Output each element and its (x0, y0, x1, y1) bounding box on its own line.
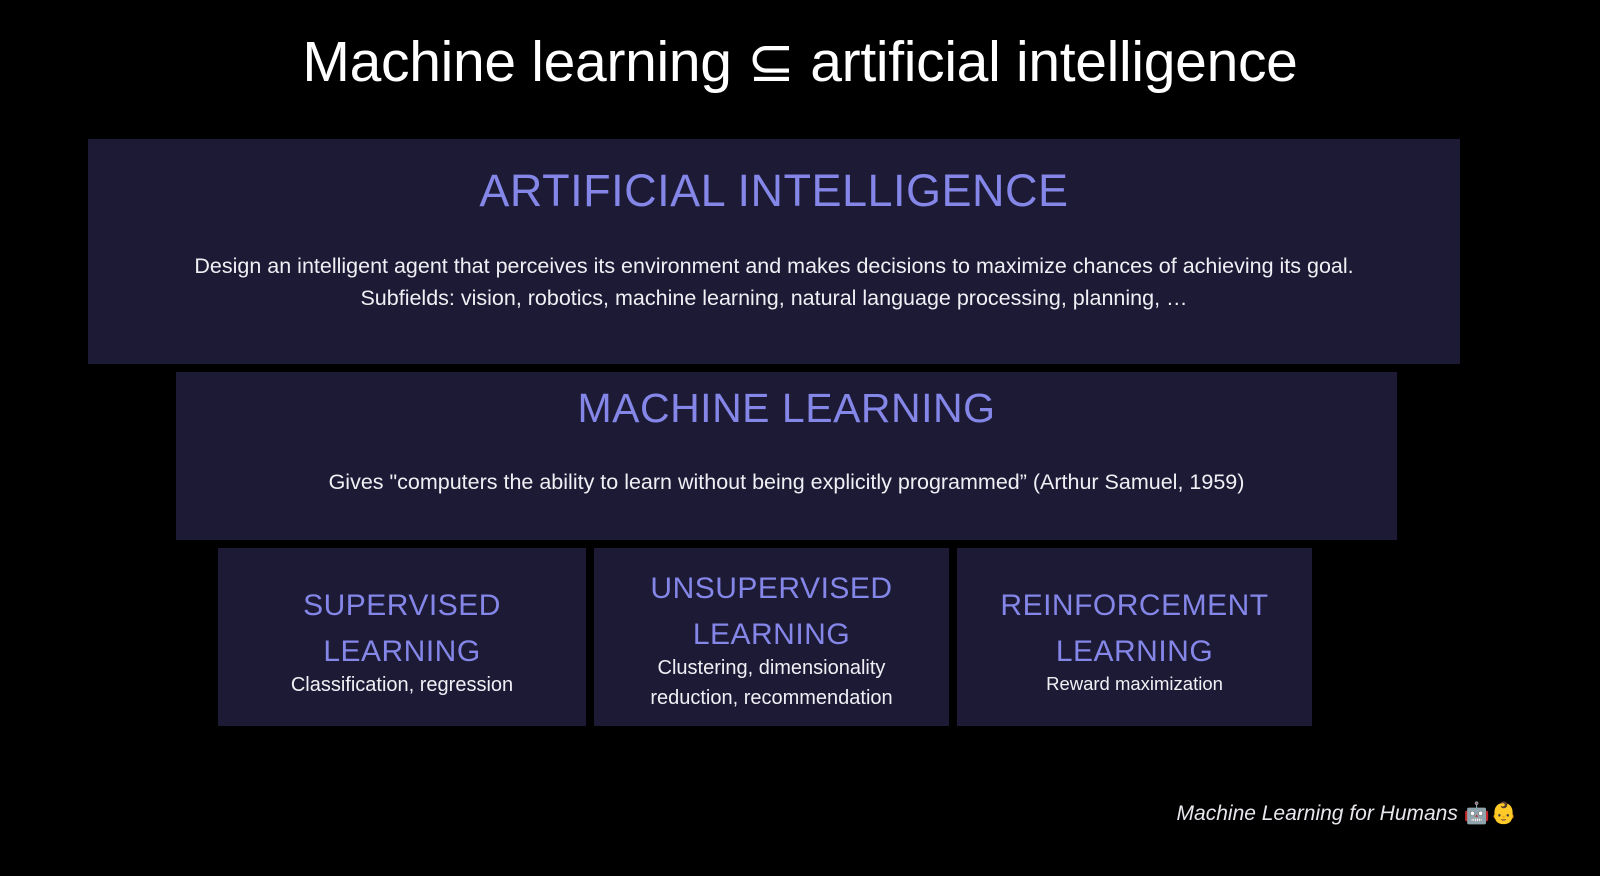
supervised-learning-heading: SUPERVISED LEARNING (218, 583, 586, 674)
unsupervised-learning-heading: UNSUPERVISED LEARNING (594, 566, 949, 657)
machine-learning-heading: MACHINE LEARNING (176, 386, 1397, 431)
artificial-intelligence-box: ARTIFICIAL INTELLIGENCE Design an intell… (88, 139, 1460, 364)
unsupervised-description-line-1: Clustering, dimensionality (594, 653, 949, 683)
ai-description-line-2: Subfields: vision, robotics, machine lea… (88, 283, 1460, 315)
unsupervised-heading-line-2: LEARNING (594, 612, 949, 658)
ai-description-line-1: Design an intelligent agent that perceiv… (88, 251, 1460, 283)
reinforcement-learning-heading: REINFORCEMENT LEARNING (957, 583, 1312, 674)
unsupervised-heading-line-1: UNSUPERVISED (594, 566, 949, 612)
reinforcement-heading-line-1: REINFORCEMENT (957, 583, 1312, 629)
unsupervised-learning-description: Clustering, dimensionality reduction, re… (594, 653, 949, 714)
page-title: Machine learning ⊆ artificial intelligen… (0, 30, 1600, 96)
supervised-learning-description: Classification, regression (218, 670, 586, 700)
supervised-heading-line-1: SUPERVISED (218, 583, 586, 629)
reinforcement-learning-description: Reward maximization (957, 670, 1312, 698)
reinforcement-description-line-1: Reward maximization (957, 670, 1312, 698)
unsupervised-learning-box: UNSUPERVISED LEARNING Clustering, dimens… (594, 548, 949, 726)
artificial-intelligence-heading: ARTIFICIAL INTELLIGENCE (88, 166, 1460, 216)
machine-learning-description: Gives "computers the ability to learn wi… (176, 468, 1397, 496)
supervised-heading-line-2: LEARNING (218, 629, 586, 675)
supervised-learning-box: SUPERVISED LEARNING Classification, regr… (218, 548, 586, 726)
footer-credit: Machine Learning for Humans 🤖👶 (1177, 802, 1518, 826)
footer-credit-text: Machine Learning for Humans (1177, 802, 1464, 825)
supervised-description-line-1: Classification, regression (218, 670, 586, 700)
robot-baby-emoji: 🤖👶 (1464, 802, 1518, 825)
reinforcement-heading-line-2: LEARNING (957, 629, 1312, 675)
unsupervised-description-line-2: reduction, recommendation (594, 683, 949, 713)
reinforcement-learning-box: REINFORCEMENT LEARNING Reward maximizati… (957, 548, 1312, 726)
machine-learning-box: MACHINE LEARNING Gives "computers the ab… (176, 372, 1397, 540)
artificial-intelligence-description: Design an intelligent agent that perceiv… (88, 251, 1460, 315)
